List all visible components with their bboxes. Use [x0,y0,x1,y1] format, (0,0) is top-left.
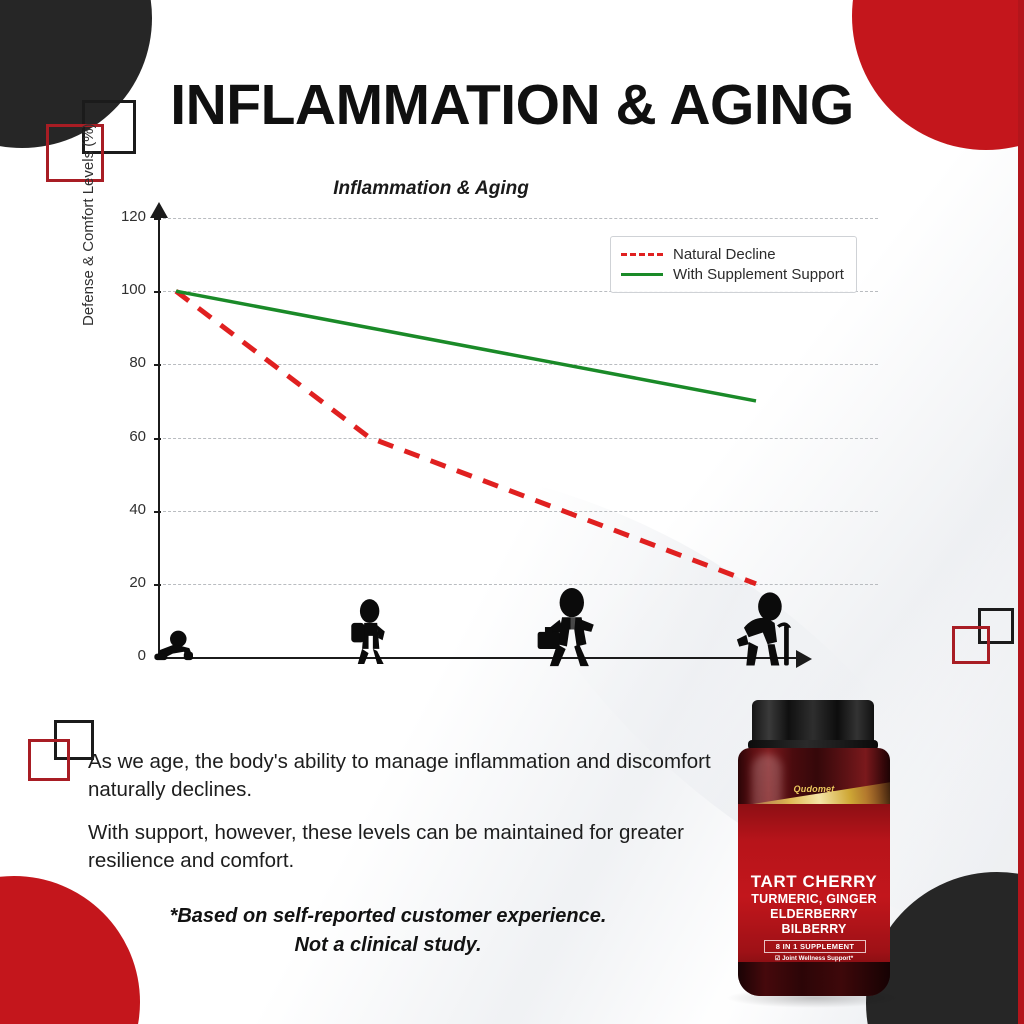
chart-series-line [176,291,756,401]
product-name-line-2: TURMERIC, GINGER [738,892,890,906]
body-copy: As we age, the body's ability to manage … [88,748,718,891]
brand-name: Qudomet [738,784,890,794]
product-name-line-4: BILBERRY [738,922,890,936]
disclaimer-line-1: *Based on self-reported customer experie… [88,902,688,931]
product-bottle[interactable]: TART CHERRY TURMERIC, GINGER ELDERBERRY … [716,700,912,1000]
legend-key-icon [621,273,663,276]
chart-y-axis-arrow-icon [150,202,168,218]
decorative-squares-right [952,608,1016,666]
body-paragraph-2: With support, however, these levels can … [88,819,718,874]
legend-item[interactable]: Natural Decline [621,244,844,264]
chart-x-axis [158,657,798,659]
chart-series-line [176,291,756,584]
stage-icon-baby-crawling [147,615,213,679]
product-name-line-1: TART CHERRY [738,872,890,892]
legend-item[interactable]: With Supplement Support [621,264,844,284]
chart-y-axis [158,218,160,658]
disclaimer: *Based on self-reported customer experie… [88,902,688,960]
legend-label: Natural Decline [673,246,776,263]
legend-label: With Supplement Support [673,266,844,283]
body-paragraph-1: As we age, the body's ability to manage … [88,748,718,803]
chart: Inflammation & Aging Defense & Comfort L… [86,178,906,678]
product-name-line-3: ELDERBERRY [738,907,890,921]
decorative-squares-mid-left [28,720,96,782]
stage-icon-elderly-cane [718,590,803,673]
stage-icon-adult-briefcase [523,588,611,673]
chart-title: Inflammation & Aging [86,178,776,200]
decorative-square-red [28,739,70,781]
supplement-badge: 8 IN 1 SUPPLEMENT [764,940,866,953]
poster-canvas: INFLAMMATION & AGING Inflammation & Agin… [0,0,1024,1024]
legend-key-icon [621,253,663,256]
chart-plot-area: Defense & Comfort Levels (%) 02040608010… [86,208,906,678]
bottle-body: TART CHERRY TURMERIC, GINGER ELDERBERRY … [738,748,890,996]
decorative-square-red [952,626,990,664]
disclaimer-line-2: Not a clinical study. [88,931,688,960]
bottle-base [738,962,890,996]
right-edge-stripe [1018,0,1024,1024]
page-title: INFLAMMATION & AGING [0,72,1024,138]
chart-legend: Natural DeclineWith Supplement Support [610,236,857,293]
stage-icon-child-backpack [334,597,412,673]
bottle-label: TART CHERRY TURMERIC, GINGER ELDERBERRY … [738,804,890,972]
